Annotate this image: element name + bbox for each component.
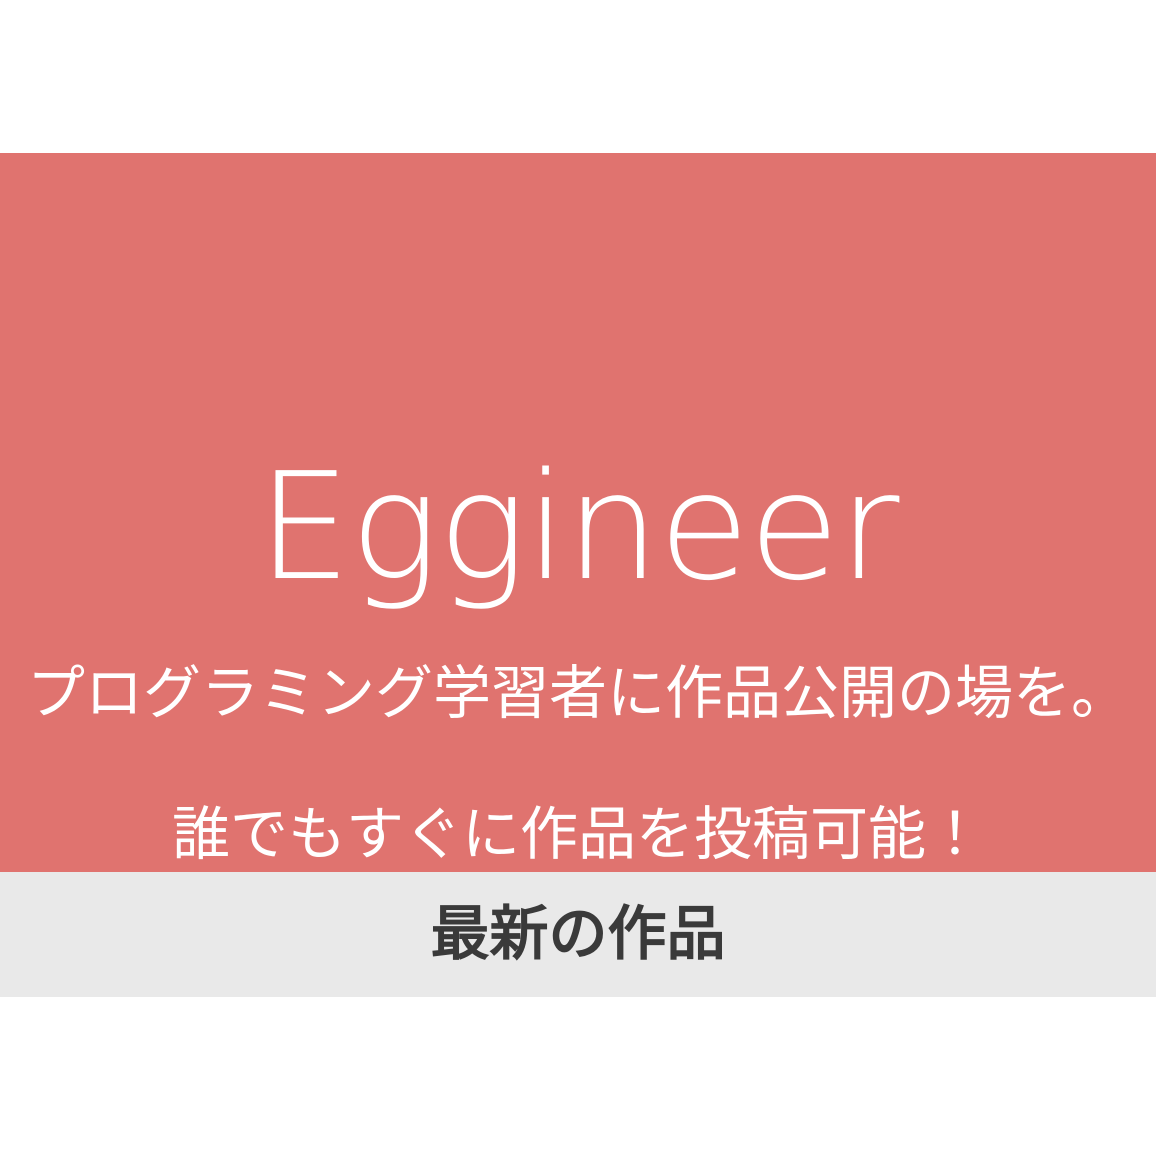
hero-tagline: プログラミング学習者に作品公開の場を。 誰でもすぐに作品を投稿可能！	[0, 623, 1156, 872]
hero-tagline-line-2: 誰でもすぐに作品を投稿可能！	[0, 764, 1156, 872]
page-top-spacer	[0, 0, 1156, 153]
latest-works-list	[0, 997, 1156, 1156]
hero-section: Eggineer プログラミング学習者に作品公開の場を。 誰でもすぐに作品を投稿…	[0, 153, 1156, 872]
landing-page: Eggineer プログラミング学習者に作品公開の場を。 誰でもすぐに作品を投稿…	[0, 0, 1156, 1156]
site-title: Eggineer	[0, 453, 1156, 601]
latest-works-title: 最新の作品	[430, 905, 725, 964]
latest-works-section-header: 最新の作品	[0, 872, 1156, 997]
hero-tagline-line-1: プログラミング学習者に作品公開の場を。	[0, 623, 1156, 764]
